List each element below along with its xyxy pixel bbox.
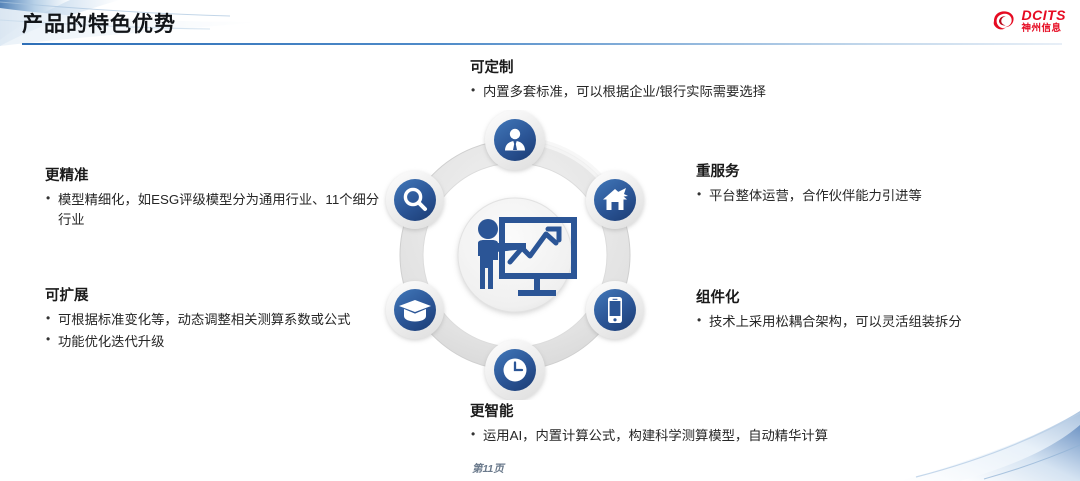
wheel-node-user[interactable] <box>485 110 545 170</box>
feature-block-extensible: 可扩展 可根据标准变化等，动态调整相关测算系数或公式 功能优化迭代升级 <box>45 288 380 353</box>
feature-bullet-list: 技术上采用松耦合架构，可以灵活组装拆分 <box>696 312 1026 331</box>
feature-title: 重服务 <box>696 164 1026 181</box>
list-item: 技术上采用松耦合架构，可以灵活组装拆分 <box>696 312 1026 331</box>
list-item: 功能优化迭代升级 <box>45 332 380 351</box>
feature-block-service: 重服务 平台整体运营，合作伙伴能力引进等 <box>696 164 1026 208</box>
list-item: 平台整体运营，合作伙伴能力引进等 <box>696 186 1026 205</box>
wheel-node-education[interactable] <box>386 281 444 339</box>
list-item: 可根据标准变化等，动态调整相关测算系数或公式 <box>45 310 380 329</box>
wheel-node-clock[interactable] <box>485 340 545 400</box>
list-item: 模型精细化，如ESG评级模型分为通用行业、11个细分行业 <box>45 190 380 229</box>
feature-title: 更精准 <box>45 168 380 185</box>
logo-english: DCITS <box>1022 8 1067 22</box>
header-divider <box>22 43 1062 45</box>
feature-block-customizable: 可定制 内置多套标准，可以根据企业/银行实际需要选择 <box>470 60 890 104</box>
clock-icon <box>504 359 527 382</box>
hexagon-feature-wheel <box>370 110 660 400</box>
feature-title: 组件化 <box>696 290 1026 307</box>
footer-swoosh-decoration <box>820 411 1080 481</box>
feature-bullet-list: 可根据标准变化等，动态调整相关测算系数或公式 功能优化迭代升级 <box>45 310 380 351</box>
page-title: 产品的特色优势 <box>22 8 176 38</box>
mobile-phone-icon <box>608 297 622 323</box>
wheel-node-mobile[interactable] <box>586 281 644 339</box>
list-item: 内置多套标准，可以根据企业/银行实际需要选择 <box>470 82 890 101</box>
slide-canvas: 产品的特色优势 DCITS 神州信息 <box>0 0 1080 481</box>
wheel-node-search[interactable] <box>386 171 444 229</box>
feature-title: 可定制 <box>470 60 890 77</box>
dcits-logo-mark-icon <box>991 9 1017 33</box>
feature-block-componentize: 组件化 技术上采用松耦合架构，可以灵活组装拆分 <box>696 290 1026 334</box>
feature-title: 可扩展 <box>45 288 380 305</box>
wheel-node-home[interactable] <box>586 171 644 229</box>
page-number-label: 第11页 <box>472 461 504 476</box>
slide-header: 产品的特色优势 DCITS 神州信息 <box>0 0 1080 46</box>
feature-bullet-list: 内置多套标准，可以根据企业/银行实际需要选择 <box>470 82 890 101</box>
dcits-logo: DCITS 神州信息 <box>991 8 1067 34</box>
feature-bullet-list: 平台整体运营，合作伙伴能力引进等 <box>696 186 1026 205</box>
feature-bullet-list: 模型精细化，如ESG评级模型分为通用行业、11个细分行业 <box>45 190 380 229</box>
feature-block-accurate: 更精准 模型精细化，如ESG评级模型分为通用行业、11个细分行业 <box>45 168 380 231</box>
dcits-logo-text: DCITS 神州信息 <box>1022 8 1067 34</box>
logo-chinese: 神州信息 <box>1022 24 1067 34</box>
